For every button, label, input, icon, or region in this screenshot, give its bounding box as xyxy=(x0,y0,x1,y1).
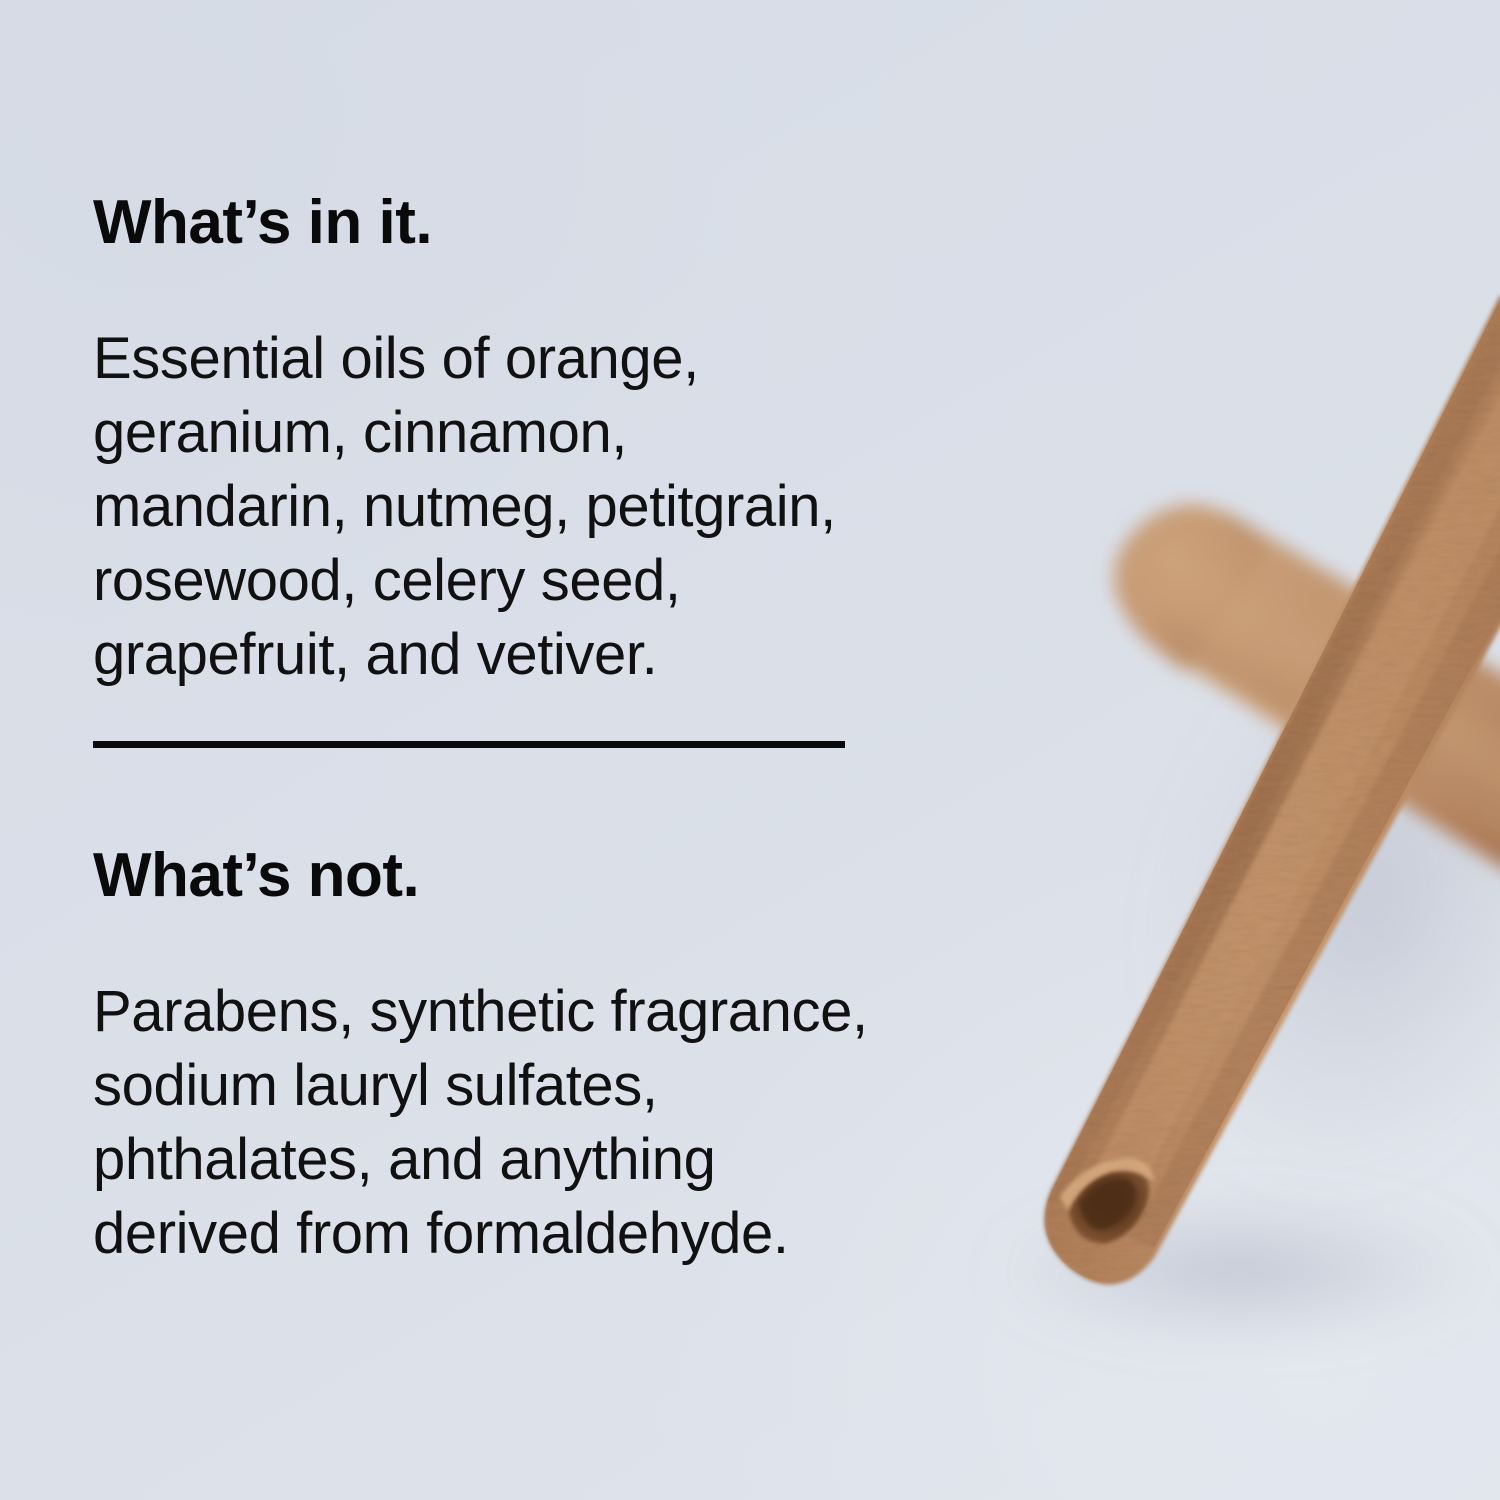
text-column: What’s in it. Essential oils of orange, … xyxy=(93,0,1053,1500)
ingredients-line: geranium, cinnamon, xyxy=(93,396,836,470)
exclusions-line: Parabens, synthetic fragrance, xyxy=(93,975,868,1049)
exclusions-line: sodium lauryl sulfates, xyxy=(93,1049,868,1123)
section-heading-whats-in-it: What’s in it. xyxy=(93,192,432,254)
section-divider-rule xyxy=(93,741,845,748)
ingredients-list: Essential oils of orange, geranium, cinn… xyxy=(93,322,836,692)
cinnamon-sticks-photo xyxy=(940,0,1500,1500)
section-heading-whats-not: What’s not. xyxy=(93,845,419,907)
ingredients-line: mandarin, nutmeg, petitgrain, xyxy=(93,470,836,544)
ingredients-line: rosewood, celery seed, xyxy=(93,544,836,618)
exclusions-line: phthalates, and anything xyxy=(93,1123,868,1197)
product-infographic: What’s in it. Essential oils of orange, … xyxy=(0,0,1500,1500)
ingredients-line: Essential oils of orange, xyxy=(93,322,836,396)
exclusions-line: derived from formaldehyde. xyxy=(93,1197,868,1271)
ingredients-line: grapefruit, and vetiver. xyxy=(93,618,836,692)
exclusions-list: Parabens, synthetic fragrance, sodium la… xyxy=(93,975,868,1271)
